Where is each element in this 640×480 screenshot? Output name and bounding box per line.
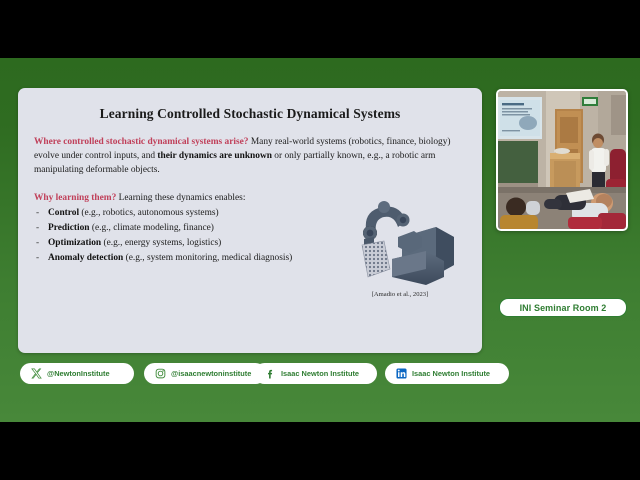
- slide-paragraph: Where controlled stochastic dynamical sy…: [34, 136, 466, 178]
- list-item-term: Optimization: [48, 238, 101, 248]
- list-item-rest: (e.g., climate modeling, finance): [92, 223, 214, 233]
- list-item-term: Anomaly detection: [48, 253, 123, 263]
- facebook-icon: [265, 368, 276, 379]
- social-handle: Isaac Newton Institute: [412, 369, 490, 378]
- seminar-room-scene: [498, 91, 626, 229]
- linkedin-icon: [396, 368, 407, 379]
- social-pill-x[interactable]: @NewtonInstitute: [20, 363, 134, 384]
- section-two-question: Why learning them?: [34, 193, 116, 203]
- bullet-marker: -: [36, 206, 39, 221]
- social-handle: Isaac Newton Institute: [281, 369, 359, 378]
- social-handle: @NewtonInstitute: [47, 369, 110, 378]
- social-pill-instagram[interactable]: @isaacnewtoninstitute: [144, 363, 266, 384]
- bullet-marker: -: [36, 251, 39, 266]
- presentation-canvas: Learning Controlled Stochastic Dynamical…: [0, 58, 640, 422]
- bullet-marker: -: [36, 236, 39, 251]
- section-two-lead: Learning these dynamics enables:: [119, 193, 246, 203]
- social-handle: @isaacnewtoninstitute: [171, 369, 251, 378]
- figure-caption: [Amadio et al., 2023]: [342, 291, 458, 298]
- social-bar: @NewtonInstitute @isaacnewtoninstitute: [0, 363, 640, 393]
- paragraph-bold: their dynamics are unknown: [157, 151, 272, 161]
- list-item-rest: (e.g., system monitoring, medical diagno…: [126, 253, 293, 263]
- letterbox-top: [0, 0, 640, 58]
- room-label-badge: INI Seminar Room 2: [499, 298, 627, 317]
- list-item-term: Control: [48, 208, 79, 218]
- video-feed-panel[interactable]: [496, 89, 628, 231]
- list-item-rest: (e.g., energy systems, logistics): [103, 238, 221, 248]
- room-label-text: INI Seminar Room 2: [520, 303, 607, 313]
- instagram-icon: [155, 368, 166, 379]
- robot-arm-illustration: [340, 193, 460, 293]
- list-item-rest: (e.g., robotics, autonomous systems): [81, 208, 218, 218]
- social-pill-facebook[interactable]: Isaac Newton Institute: [254, 363, 377, 384]
- list-item-term: Prediction: [48, 223, 90, 233]
- letterbox-bottom: [0, 422, 640, 480]
- slide-card: Learning Controlled Stochastic Dynamical…: [18, 88, 482, 353]
- bullet-marker: -: [36, 221, 39, 236]
- paragraph-question: Where controlled stochastic dynamical sy…: [34, 137, 248, 147]
- x-twitter-icon: [31, 368, 42, 379]
- screen: Learning Controlled Stochastic Dynamical…: [0, 0, 640, 480]
- slide-title: Learning Controlled Stochastic Dynamical…: [34, 106, 466, 122]
- social-pill-linkedin[interactable]: Isaac Newton Institute: [385, 363, 509, 384]
